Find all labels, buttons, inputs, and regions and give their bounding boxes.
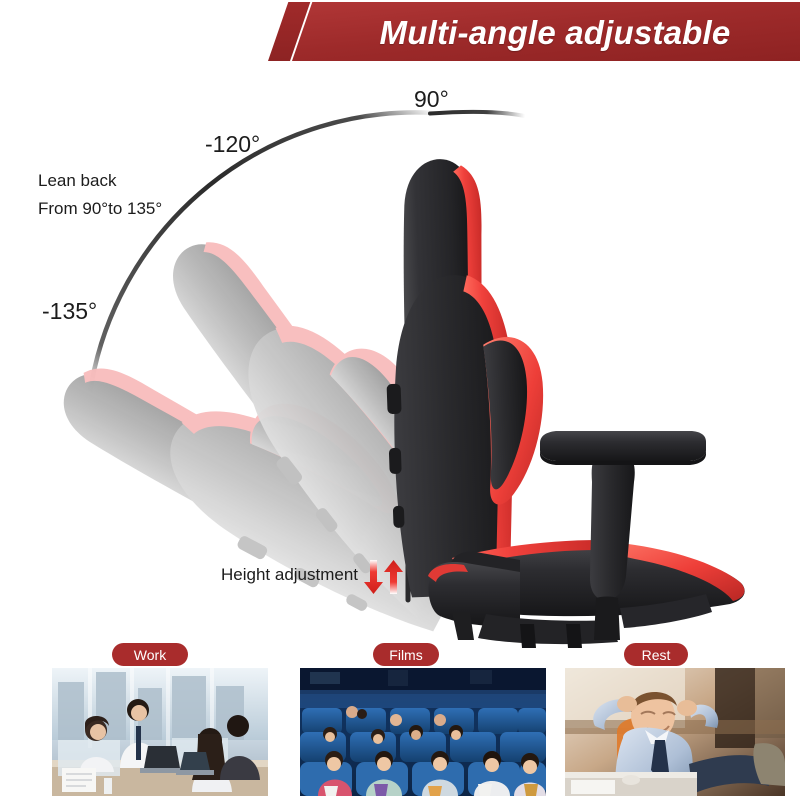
scene-photo-work — [52, 668, 268, 796]
height-arrows — [363, 558, 405, 596]
scene-photo-rest — [565, 668, 785, 796]
infographic-canvas: Multi-angle adjustable 90° -120° -135° L… — [0, 0, 800, 800]
armrest-pad — [540, 431, 706, 461]
scene-badge-rest[interactable]: Rest — [624, 643, 688, 666]
arrow-down-icon — [364, 560, 383, 594]
scene-photo-films — [300, 668, 546, 796]
scene-badge-work[interactable]: Work — [112, 643, 188, 666]
arrow-up-icon — [384, 560, 403, 594]
chair-backrest — [379, 156, 550, 598]
scene-badge-films[interactable]: Films — [373, 643, 439, 666]
height-adjustment-label: Height adjustment — [221, 565, 358, 585]
